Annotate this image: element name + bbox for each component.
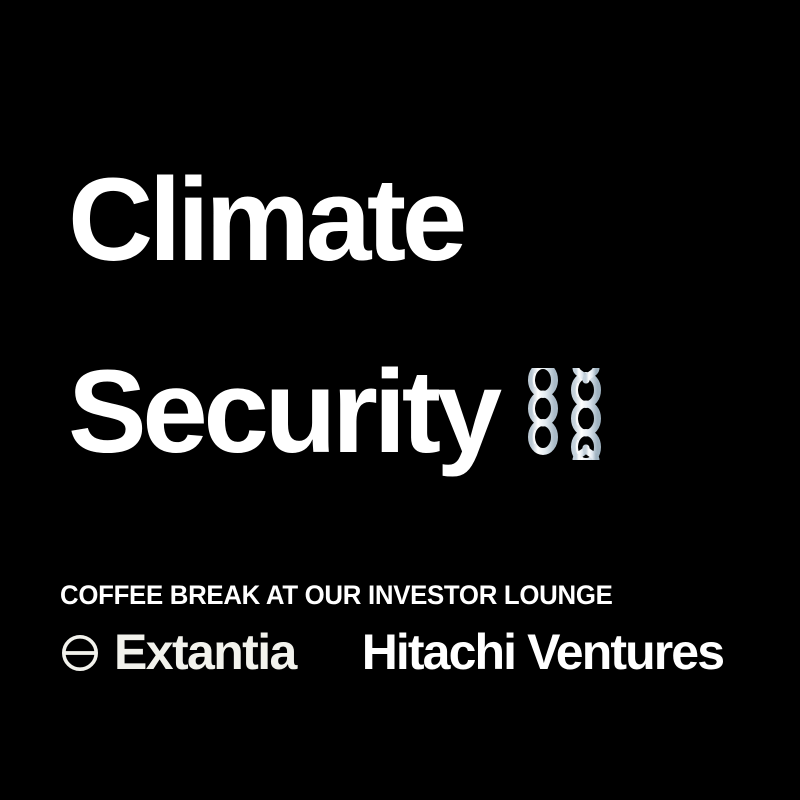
headline-line-security: Security <box>68 316 498 508</box>
kicker-text: COFFEE BREAK AT OUR INVESTOR LOUNGE <box>60 580 748 610</box>
extantia-ring-icon <box>60 633 100 673</box>
footer-block: COFFEE BREAK AT OUR INVESTOR LOUNGE Exta… <box>60 580 780 680</box>
event-promo-card: Climate Security <box>0 0 800 800</box>
extantia-wordmark: Extantia <box>114 626 296 678</box>
headline-block: Climate Security <box>68 124 768 508</box>
hitachi-ventures-wordmark: Hitachi Ventures <box>362 626 723 678</box>
logo-extantia: Extantia <box>60 626 296 678</box>
logo-row: Extantia Hitachi Ventures <box>60 624 780 680</box>
chains-icon <box>524 368 606 460</box>
headline-line-climate: Climate <box>68 124 768 316</box>
headline-line-security-row: Security <box>68 316 768 508</box>
